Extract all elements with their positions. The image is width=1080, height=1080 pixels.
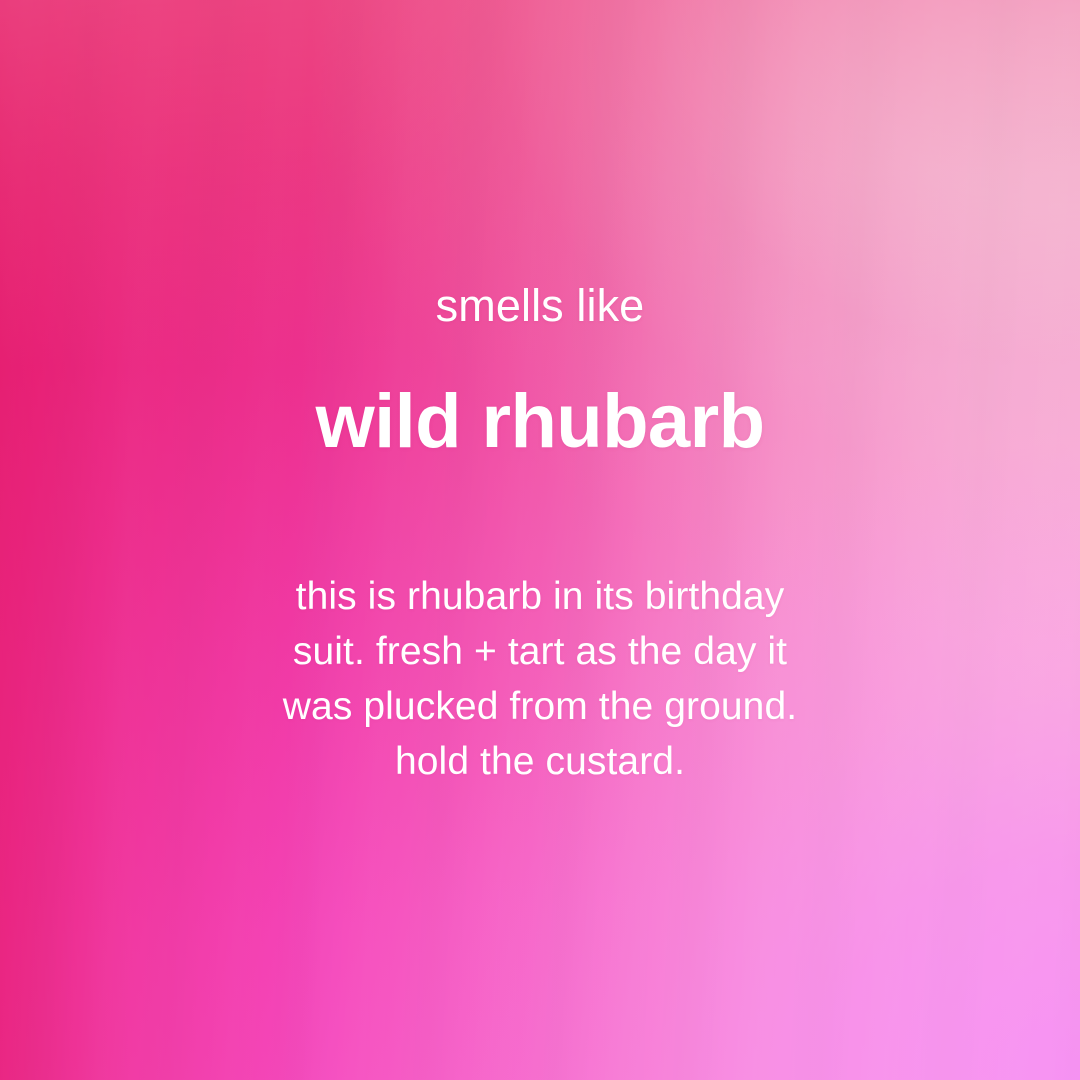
page-title: wild rhubarb: [316, 384, 765, 460]
product-scent-card: smells like wild rhubarb this is rhubarb…: [0, 0, 1080, 1080]
eyebrow-text: smells like: [436, 283, 645, 328]
description-text: this is rhubarb in its birthday suit. fr…: [280, 569, 800, 789]
card-content: smells like wild rhubarb this is rhubarb…: [0, 0, 1080, 1080]
